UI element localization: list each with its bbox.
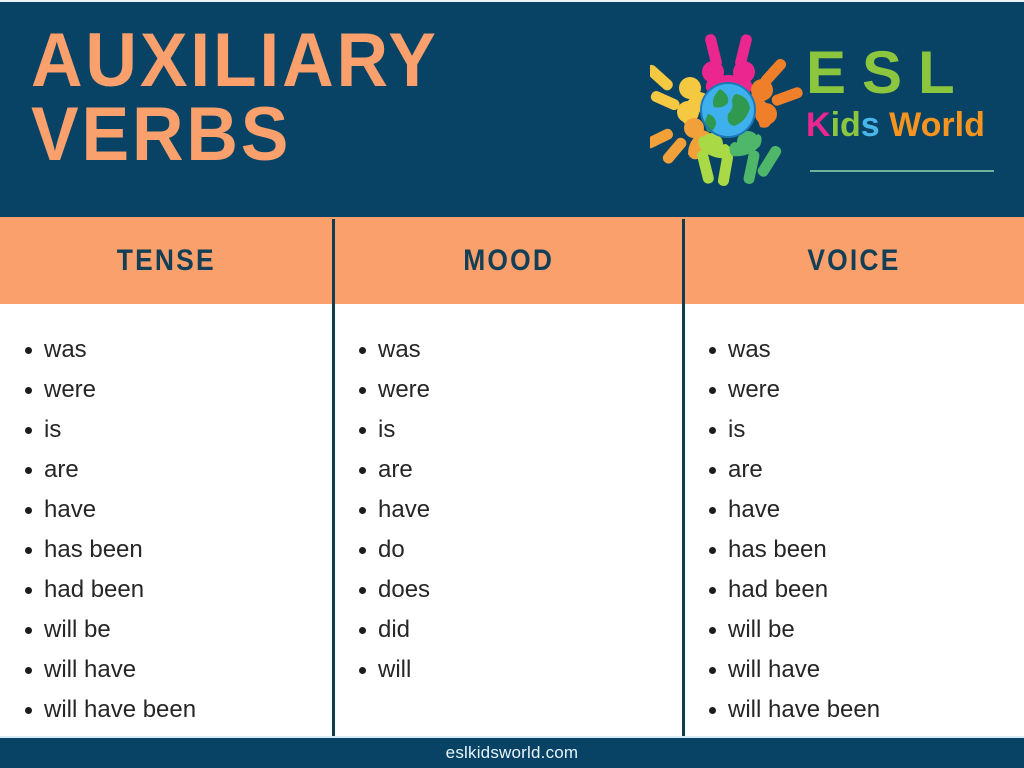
list-item: had been	[704, 570, 1024, 610]
column-body-mood: was were is are have do does did will	[334, 304, 683, 738]
list-item: will be	[20, 610, 333, 650]
list-item: will	[354, 650, 683, 690]
list-item: were	[704, 370, 1024, 410]
list-item: has been	[20, 530, 333, 570]
footer-website: eslkidsworld.com	[446, 743, 579, 763]
list-item: are	[354, 450, 683, 490]
list-item: are	[704, 450, 1024, 490]
brand-name-kids-world: Kids World	[806, 106, 998, 144]
list-item: is	[354, 410, 683, 450]
page-title-line-2: VERBS	[31, 98, 557, 172]
list-item: do	[354, 530, 683, 570]
list-item: have	[354, 490, 683, 530]
brand-logo-text: ESL Kids World	[806, 42, 998, 144]
list-item: is	[704, 410, 1024, 450]
list-item: was	[20, 330, 333, 370]
list-item: was	[354, 330, 683, 370]
column-body-voice: was were is are have has been had been w…	[684, 304, 1024, 738]
list-item: has been	[704, 530, 1024, 570]
page-title-line-1: AUXILIARY	[31, 24, 557, 98]
list-item: is	[20, 410, 333, 450]
verb-list-tense: was were is are have has been had been w…	[20, 304, 333, 730]
list-item: had been	[20, 570, 333, 610]
column-divider-left	[332, 219, 335, 738]
list-item: will have	[704, 650, 1024, 690]
list-item: will have been	[704, 690, 1024, 730]
column-header-voice-label: VOICE	[807, 244, 900, 278]
column-header-mood: MOOD	[334, 217, 683, 304]
column-divider-right	[682, 219, 685, 738]
list-item: are	[20, 450, 333, 490]
page-title: AUXILIARY VERBS	[31, 24, 591, 173]
brand-name-esl: ESL	[806, 42, 998, 104]
poster-header-band: AUXILIARY VERBS	[0, 0, 1024, 217]
brand-logo-underline	[810, 170, 994, 172]
list-item: did	[354, 610, 683, 650]
list-item: will be	[704, 610, 1024, 650]
column-header-mood-label: MOOD	[463, 244, 554, 278]
column-header-band: TENSE MOOD VOICE	[0, 217, 1024, 304]
column-header-tense-label: TENSE	[117, 244, 216, 278]
column-body-tense: was were is are have has been had been w…	[0, 304, 333, 738]
auxiliary-verbs-poster: AUXILIARY VERBS	[0, 0, 1024, 768]
footer-band: eslkidsworld.com	[0, 738, 1024, 768]
list-item: will have been	[20, 690, 333, 730]
verb-list-voice: was were is are have has been had been w…	[704, 304, 1024, 730]
list-item: was	[704, 330, 1024, 370]
list-item: does	[354, 570, 683, 610]
children-around-globe-icon	[650, 32, 810, 188]
columns-body: was were is are have has been had been w…	[0, 304, 1024, 738]
list-item: have	[704, 490, 1024, 530]
verb-list-mood: was were is are have do does did will	[354, 304, 683, 690]
list-item: will have	[20, 650, 333, 690]
brand-logo: ESL Kids World	[640, 24, 1000, 196]
list-item: have	[20, 490, 333, 530]
list-item: were	[20, 370, 333, 410]
list-item: were	[354, 370, 683, 410]
column-header-voice: VOICE	[684, 217, 1024, 304]
column-header-tense: TENSE	[0, 217, 333, 304]
